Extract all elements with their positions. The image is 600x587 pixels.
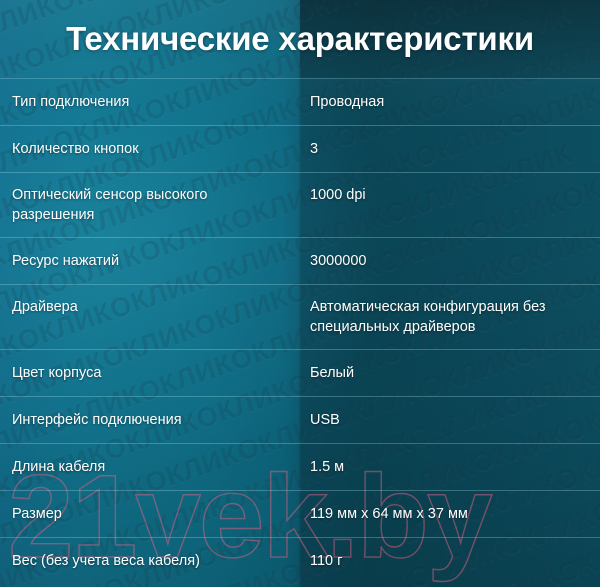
spec-row: Вес (без учета веса кабеля)110 г (0, 537, 600, 584)
spec-label: Длина кабеля (0, 444, 300, 490)
spec-label: Ресурс нажатий (0, 238, 300, 284)
spec-label: Драйвера (0, 285, 300, 329)
spec-row: Размер119 мм x 64 мм x 37 мм (0, 490, 600, 537)
spec-label: Количество кнопок (0, 126, 300, 172)
spec-label: Вес (без учета веса кабеля) (0, 538, 300, 584)
spec-label: Оптический сенсор высокого разрешения (0, 173, 300, 237)
spec-row: Ресурс нажатий3000000 (0, 237, 600, 284)
spec-row: Количество кнопок3 (0, 125, 600, 172)
page-title: Технические характеристики (66, 20, 534, 58)
spec-row: Оптический сенсор высокого разрешения100… (0, 172, 600, 237)
spec-value: 3 (300, 126, 600, 172)
spec-row: Интерфейс подключенияUSB (0, 396, 600, 443)
spec-row: Длина кабеля1.5 м (0, 443, 600, 490)
spec-value: 3000000 (300, 238, 600, 284)
spec-sheet-page: ОКЛИКОКЛИКОКЛИКОКЛИКОКЛИКОКЛИКОКЛИКОКЛИК… (0, 0, 600, 587)
spec-label: Цвет корпуса (0, 350, 300, 396)
spec-value: 1.5 м (300, 444, 600, 490)
spec-value: 110 г (300, 538, 600, 584)
spec-value: 119 мм x 64 мм x 37 мм (300, 491, 600, 537)
spec-label: Размер (0, 491, 300, 537)
spec-value: Автоматическая конфигурация без специаль… (300, 285, 600, 349)
spec-value: Белый (300, 350, 600, 396)
spec-row: ДрайвераАвтоматическая конфигурация без … (0, 284, 600, 349)
spec-value: 1000 dpi (300, 173, 600, 217)
spec-row: Цвет корпусаБелый (0, 349, 600, 396)
specifications-table: Тип подключенияПроводнаяКоличество кнопо… (0, 78, 600, 584)
title-bar: Технические характеристики (0, 0, 600, 78)
spec-label: Тип подключения (0, 79, 300, 125)
spec-row: Тип подключенияПроводная (0, 78, 600, 125)
spec-label: Интерфейс подключения (0, 397, 300, 443)
spec-value: Проводная (300, 79, 600, 125)
spec-value: USB (300, 397, 600, 443)
